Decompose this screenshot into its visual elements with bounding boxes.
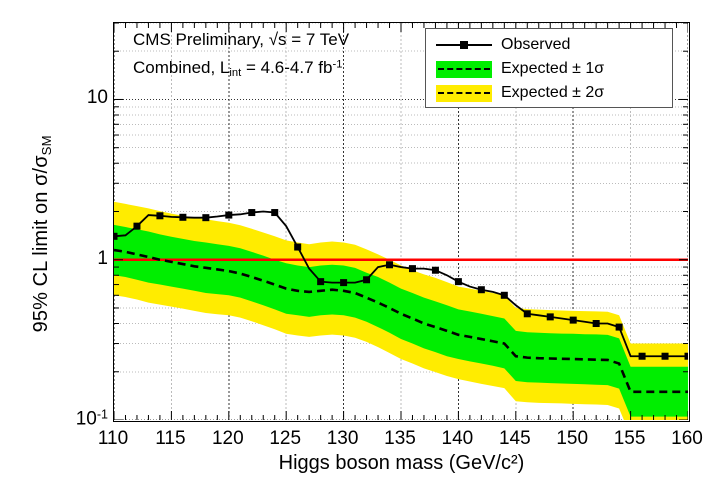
x-tick-140: 140 (427, 428, 487, 450)
x-tick-155: 155 (600, 428, 660, 450)
y-tick-1: 1 (48, 248, 108, 270)
legend-label-expected-1sigma: Expected ± 1σ (501, 60, 604, 78)
legend-label-observed: Observed (501, 36, 570, 54)
legend-swatch-observed (436, 38, 492, 52)
y-tick-10: 10 (48, 87, 108, 109)
figure-root: 10 1 10-1 95% CL limit on σ/σSM 11011512… (0, 0, 720, 487)
x-tick-115: 115 (140, 428, 200, 450)
x-tick-120: 120 (198, 428, 258, 450)
legend-item-observed: Observed (426, 33, 672, 57)
legend-item-expected-2sigma: Expected ± 2σ (426, 81, 672, 105)
y-axis-title: 95% CL limit on σ/σSM (30, 24, 54, 444)
x-tick-125: 125 (255, 428, 315, 450)
x-tick-145: 145 (485, 428, 545, 450)
legend-label-expected-2sigma: Expected ± 2σ (501, 84, 604, 102)
legend: Observed Expected ± 1σ Expected ± 2σ (425, 28, 673, 108)
x-tick-130: 130 (313, 428, 373, 450)
x-axis-title: Higgs boson mass (GeV/c²) (113, 452, 690, 475)
header-line-2: Combined, Lint = 4.6-4.7 fb-1 (133, 58, 342, 79)
legend-swatch-2sigma (436, 85, 492, 102)
x-tick-150: 150 (542, 428, 602, 450)
legend-item-expected-1sigma: Expected ± 1σ (426, 57, 672, 81)
header-line-1: CMS Preliminary, √s = 7 TeV (133, 30, 349, 50)
x-tick-135: 135 (370, 428, 430, 450)
x-tick-160: 160 (657, 428, 717, 450)
legend-swatch-1sigma (436, 61, 492, 78)
x-tick-110: 110 (83, 428, 143, 450)
